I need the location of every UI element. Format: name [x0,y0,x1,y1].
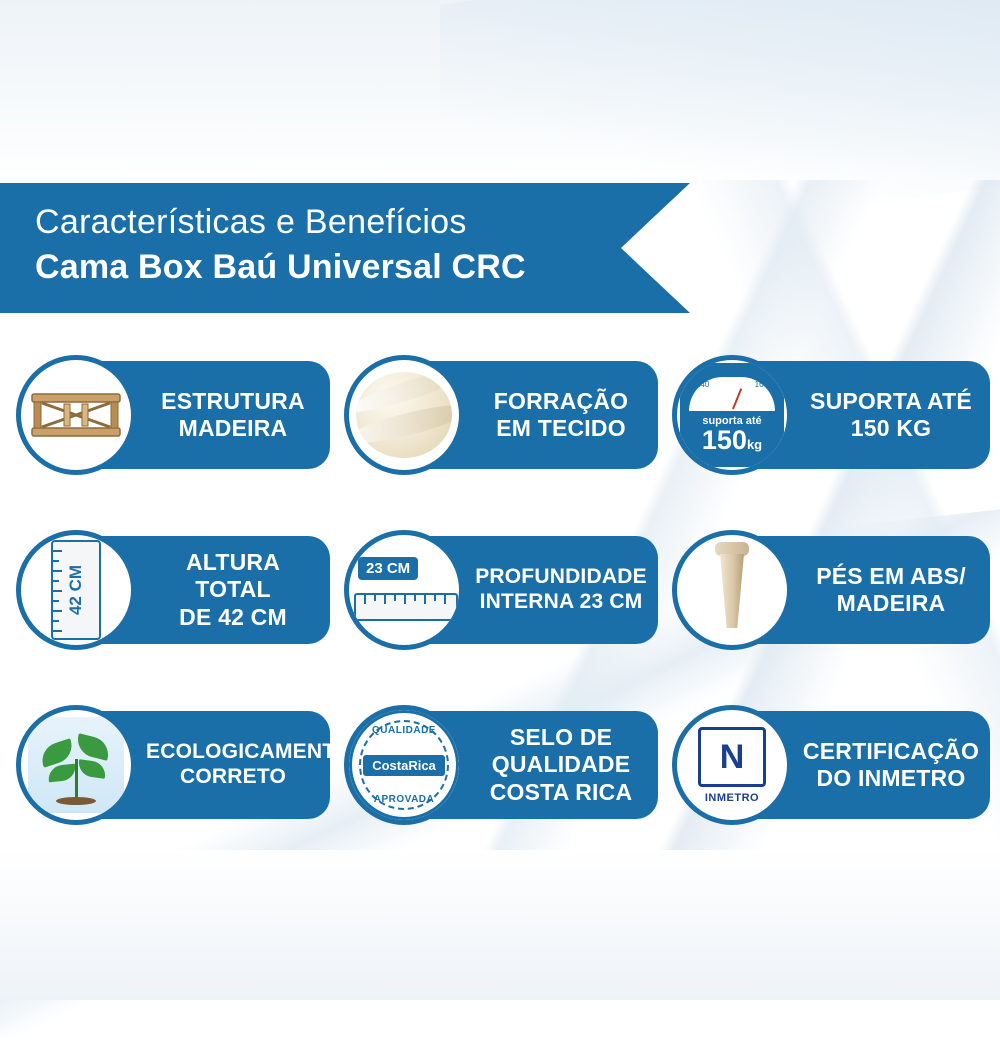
feature-badge [344,355,464,475]
eco-plant-art [28,717,124,813]
leaf [77,759,107,779]
inmetro-icon: N INMETRO [677,710,787,820]
furniture-foot-icon [677,535,787,645]
feature-badge: 42 CM [16,530,136,650]
soil [56,797,96,805]
feature-label-line2: QUALIDADE [474,751,648,778]
horizontal-ruler-art: 23 CM [352,557,456,623]
foot-body [720,554,744,628]
feature-badge: QUALIDADE CostaRica APROVADA [344,705,464,825]
feature-label-line1: ESTRUTURA [146,388,320,415]
feature-label-line2: 150 KG [802,415,980,442]
feature-ecologicamento-correto: ECOLOGICAMENTO CORRETO [10,705,330,827]
feature-label: PROFUNDIDADE INTERNA 23 CM [474,565,648,615]
features-grid: ESTRUTURA MADEIRA [0,355,1000,880]
feature-label-line1: SUPORTA ATÉ [802,388,980,415]
leaf [47,764,77,783]
feature-label-line1: SELO DE [474,724,648,751]
inmetro-box: N [698,727,766,787]
feature-label-line2: MADEIRA [802,590,980,617]
feature-label-line1: PÉS EM ABS/ [802,563,980,590]
header-title-line1: Características e Benefícios [35,201,526,244]
wood-structure-icon [21,360,131,470]
weight-scale-icon: 140 160 suporta até 150kg [677,360,787,470]
scale-value-number: 150 [702,425,747,455]
weight-scale-art: 140 160 suporta até 150kg [680,363,784,467]
header-title-line2: Cama Box Baú Universal CRC [35,246,526,289]
header-text-block: Características e Benefícios Cama Box Ba… [35,201,526,288]
feature-label-line2: CORRETO [146,765,320,790]
feature-badge [16,355,136,475]
features-row-2: ALTURA TOTAL DE 42 CM 42 CM [0,530,1000,705]
feature-profundidade-23cm: PROFUNDIDADE INTERNA 23 CM 23 CM [338,530,658,652]
inmetro-caption: INMETRO [705,792,759,804]
horizontal-ruler-icon: 23 CM [349,535,459,645]
feature-label-line1: FORRAÇÃO [474,388,648,415]
feature-label: CERTIFICAÇÃO DO INMETRO [802,738,980,792]
fabric-icon [349,360,459,470]
seal-top-text: QUALIDADE [352,725,456,736]
feature-badge: 140 160 suporta até 150kg [672,355,792,475]
leaf [74,733,112,761]
vertical-ruler-art: 42 CM [51,540,101,640]
vertical-ruler-icon: 42 CM [21,535,131,645]
feature-label: SELO DE QUALIDADE COSTA RICA [474,724,648,805]
feature-altura-42cm: ALTURA TOTAL DE 42 CM 42 CM [10,530,330,652]
furniture-foot-art [706,542,758,638]
eco-plant-icon [21,710,131,820]
features-row-3: ECOLOGICAMENTO CORRETO [0,705,1000,880]
feature-badge [672,530,792,650]
feature-badge [16,705,136,825]
feature-label-line1: CERTIFICAÇÃO [802,738,980,765]
scale-value-unit: kg [747,437,762,452]
feature-forracao-tecido: FORRAÇÃO EM TECIDO [338,355,658,477]
ruler-value: 42 CM [66,565,86,615]
feature-label: ECOLOGICAMENTO CORRETO [146,740,320,790]
scale-dial: 140 160 [689,377,775,411]
scale-left-number: 140 [696,380,709,389]
feature-selo-qualidade-costa-rica: SELO DE QUALIDADE COSTA RICA QUALIDADE C… [338,705,658,827]
scale-needle [732,388,742,409]
features-row-1: ESTRUTURA MADEIRA [0,355,1000,530]
feature-pes-abs-madeira: PÉS EM ABS/ MADEIRA [666,530,990,652]
feature-label: FORRAÇÃO EM TECIDO [474,388,648,442]
inmetro-art: N INMETRO [682,717,782,813]
feature-label-line1: ALTURA TOTAL [146,549,320,603]
feature-estrutura-madeira: ESTRUTURA MADEIRA [10,355,330,477]
feature-badge: 23 CM [344,530,464,650]
feature-certificacao-inmetro: CERTIFICAÇÃO DO INMETRO N INMETRO [666,705,990,827]
feature-badge: N INMETRO [672,705,792,825]
fabric-art [356,372,452,458]
inmetro-letter: N [720,740,745,774]
feature-label-line2: MADEIRA [146,415,320,442]
scale-right-number: 160 [755,380,768,389]
scale-value: 150kg [702,427,762,454]
feature-label: PÉS EM ABS/ MADEIRA [802,563,980,617]
stem [75,759,78,799]
wood-structure-svg [30,390,122,440]
feature-label-line2: DE 42 CM [146,604,320,631]
feature-label-line1: ECOLOGICAMENTO [146,740,320,765]
ruler-value: 23 CM [358,557,418,580]
quality-seal-art: QUALIDADE CostaRica APROVADA [349,710,459,820]
seal-bottom-text: APROVADA [352,794,456,805]
feature-label: ALTURA TOTAL DE 42 CM [146,549,320,630]
ruler-bar [354,593,458,621]
header-banner: Características e Benefícios Cama Box Ba… [0,183,690,313]
feature-label-line2: EM TECIDO [474,415,648,442]
quality-seal-icon: QUALIDADE CostaRica APROVADA [349,710,459,820]
feature-label-line2: DO INMETRO [802,765,980,792]
feature-label-line3: COSTA RICA [474,779,648,806]
feature-label-line1: PROFUNDIDADE [474,565,648,590]
feature-label: SUPORTA ATÉ 150 KG [802,388,980,442]
ruler-ticks [53,542,67,638]
foot-cap [715,542,749,556]
feature-label: ESTRUTURA MADEIRA [146,388,320,442]
feature-suporta-150kg: SUPORTA ATÉ 150 KG 140 160 suporta até [666,355,990,477]
feature-label-line2: INTERNA 23 CM [474,590,648,615]
